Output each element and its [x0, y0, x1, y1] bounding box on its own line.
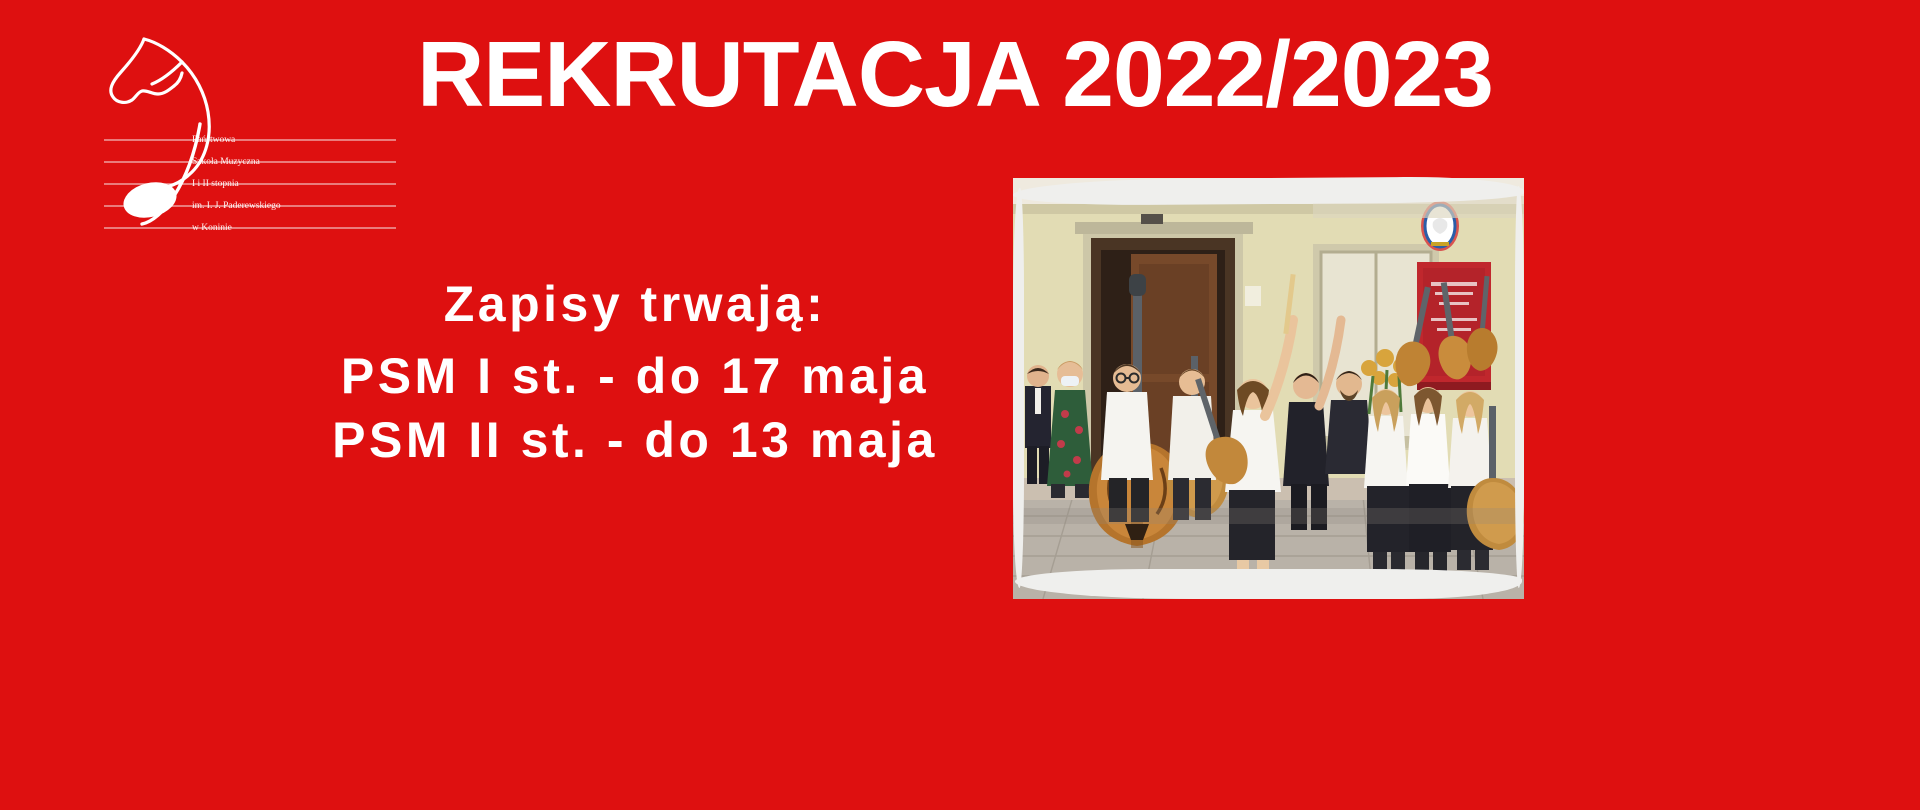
enrollment-line-3: PSM II st. - do 13 maja — [130, 408, 1140, 472]
logo-line-2: Szkoła Muzyczna — [192, 157, 261, 167]
recruitment-banner: Państwowa Szkoła Muzyczna I i II stopnia… — [0, 0, 1920, 810]
logo-line-1: Państwowa — [192, 135, 236, 145]
school-logo: Państwowa Szkoła Muzyczna I i II stopnia… — [100, 28, 400, 243]
photo-frame — [1013, 178, 1524, 599]
enrollment-line-2: PSM I st. - do 17 maja — [130, 344, 1140, 408]
logo-line-5: w Koninie — [192, 223, 232, 233]
logo-line-3: I i II stopnia — [192, 179, 239, 189]
page-title: REKRUTACJA 2022/2023 — [410, 24, 1500, 124]
horse-head-treble-clef-logo: Państwowa Szkoła Muzyczna I i II stopnia… — [100, 28, 400, 243]
logo-line-4: im. I. J. Paderewskiego — [192, 201, 281, 211]
school-orchestra-group-photo — [1013, 178, 1524, 599]
enrollment-info: Zapisy trwają: PSM I st. - do 17 maja PS… — [130, 272, 1140, 472]
enrollment-line-1: Zapisy trwają: — [130, 272, 1140, 336]
